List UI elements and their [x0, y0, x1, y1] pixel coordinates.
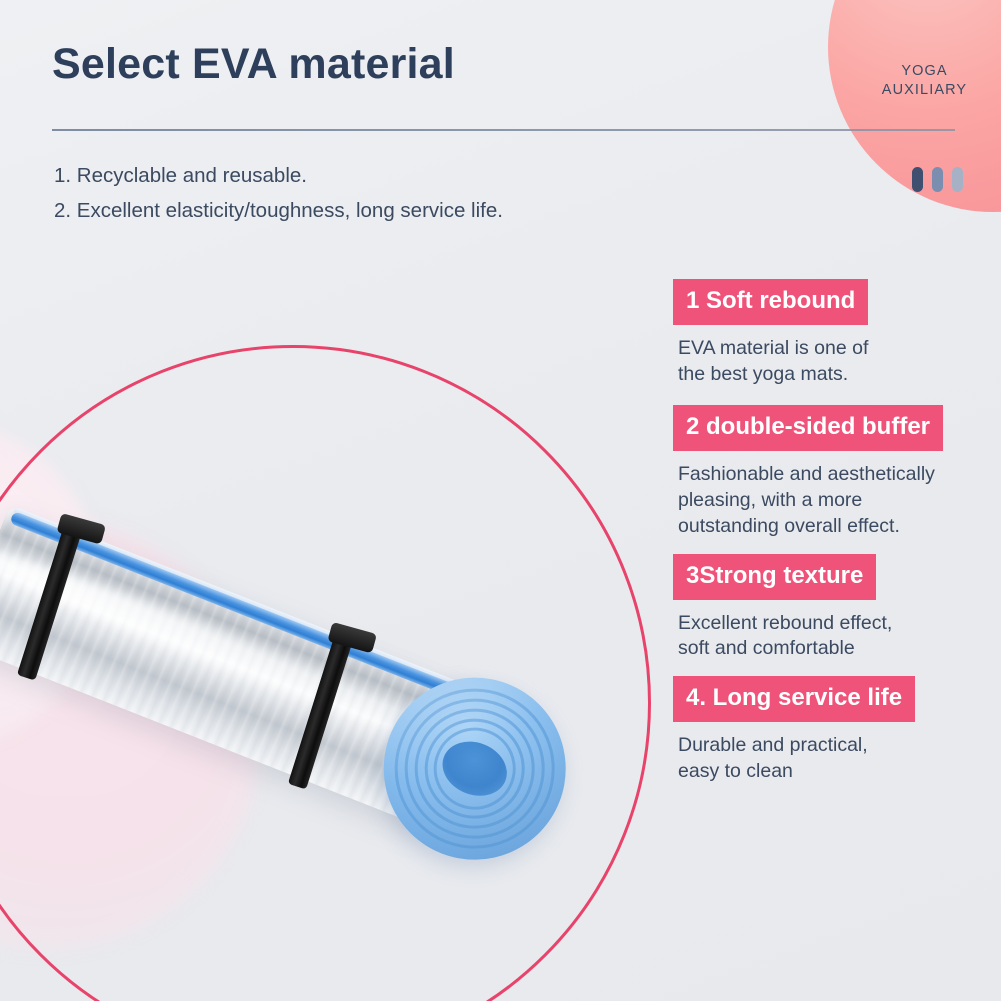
feature-item-4: 4. Long service life Durable and practic…	[673, 676, 1001, 784]
intro-list-item-1: 1. Recyclable and reusable.	[54, 158, 503, 193]
pill-indicator-1	[912, 167, 923, 192]
pill-indicator-group	[912, 167, 963, 192]
feature-desc-2: Fashionable and aesthetically pleasing, …	[678, 462, 1001, 539]
pill-indicator-2	[932, 167, 943, 192]
page-title: Select EVA material	[52, 40, 455, 89]
feature-desc-1: EVA material is one of the best yoga mat…	[678, 336, 1001, 387]
pill-indicator-3	[952, 167, 963, 192]
feature-desc-4: Durable and practical, easy to clean	[678, 733, 1001, 784]
feature-badge-3: 3Strong texture	[673, 554, 876, 600]
title-divider	[52, 129, 955, 131]
feature-list: 1 Soft rebound EVA material is one of th…	[673, 279, 1001, 791]
feature-desc-3: Excellent rebound effect, soft and comfo…	[678, 611, 1001, 662]
feature-item-3: 3Strong texture Excellent rebound effect…	[673, 554, 1001, 662]
intro-list-item-2: 2. Excellent elasticity/toughness, long …	[54, 193, 503, 228]
feature-item-2: 2 double-sided buffer Fashionable and ae…	[673, 405, 1001, 539]
feature-badge-4: 4. Long service life	[673, 676, 915, 722]
brand-line-yoga: YOGA	[862, 62, 987, 81]
brand-line-auxiliary: AUXILIARY	[862, 81, 987, 100]
brand-label: YOGA AUXILIARY	[862, 62, 987, 100]
feature-badge-1: 1 Soft rebound	[673, 279, 868, 325]
feature-item-1: 1 Soft rebound EVA material is one of th…	[673, 279, 1001, 387]
intro-list: 1. Recyclable and reusable. 2. Excellent…	[54, 158, 503, 229]
feature-badge-2: 2 double-sided buffer	[673, 405, 943, 451]
